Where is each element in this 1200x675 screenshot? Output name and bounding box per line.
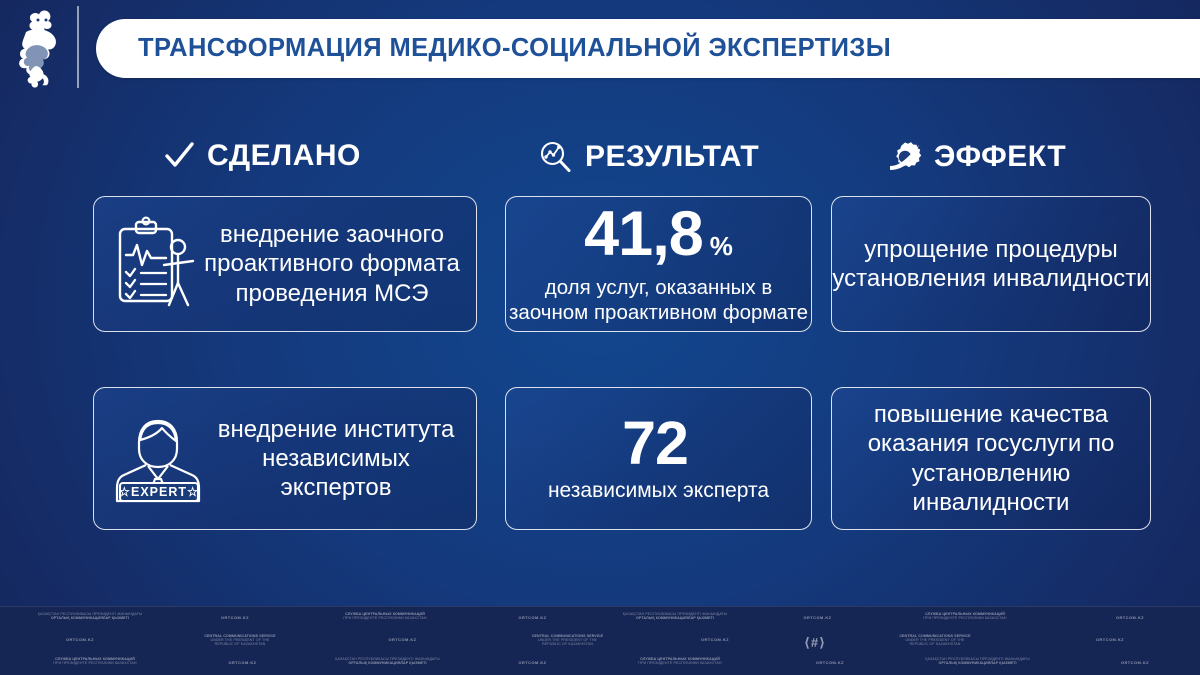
- column-header-done: СДЕЛАНО: [163, 139, 361, 173]
- watermark-site: ORTCOM.KZ: [180, 612, 290, 621]
- watermark-en: CENTRAL COMMUNICATIONS SERVICE UNDER THE…: [485, 634, 650, 647]
- watermark-row: ORTCOM.KZ CENTRAL COMMUNICATIONS SERVICE…: [0, 634, 1200, 650]
- watermark-site: ORTCOM.KZ: [190, 657, 295, 666]
- column-header-done-label: СДЕЛАНО: [207, 139, 361, 173]
- card-done-1-text: внедрение заочного проактивного формата …: [204, 220, 460, 308]
- watermark-kz: ҚАЗАҚСТАН РЕСПУБЛИКАСЫ ПРЕЗИДЕНТІ ЖАНЫНД…: [295, 657, 480, 665]
- result-1-caption: доля услуг, оказанных в заочном проактив…: [506, 275, 811, 325]
- magnifier-chart-icon: [537, 139, 573, 175]
- result-1-value: 41,8: [584, 203, 703, 266]
- watermark-ru: СЛУЖБА ЦЕНТРАЛЬНЫХ КОММУНИКАЦИЙ ПРИ ПРЕЗ…: [0, 657, 190, 665]
- watermark-row: ҚАЗАҚСТАН РЕСПУБЛИКАСЫ ПРЕЗИДЕНТІ ЖАНЫНД…: [0, 612, 1200, 621]
- header-divider: [77, 6, 79, 88]
- card-done-1[interactable]: внедрение заочного проактивного формата …: [93, 196, 477, 332]
- watermark-site: ORTCOM.KZ: [650, 634, 780, 643]
- watermark-site: ORTCOM.KZ: [320, 634, 485, 643]
- clipboard-medical-person-icon: [108, 215, 204, 313]
- check-icon: [163, 140, 195, 172]
- result-2-caption: независимых эксперта: [548, 478, 769, 504]
- card-done-2-text: внедрение института независимых эксперто…: [212, 415, 460, 503]
- svg-text:☆EXPERT☆: ☆EXPERT☆: [119, 485, 199, 499]
- card-result-1[interactable]: 41,8% доля услуг, оказанных в заочном пр…: [505, 196, 812, 332]
- watermark-ru: СЛУЖБА ЦЕНТРАЛЬНЫХ КОММУНИКАЦИЙ ПРИ ПРЕЗ…: [870, 612, 1060, 620]
- watermark-site: ORTCOM.KZ: [480, 612, 585, 621]
- result-2-value: 72: [622, 413, 688, 474]
- column-header-result-label: РЕЗУЛЬТАТ: [585, 140, 759, 174]
- result-1-value-group: 41,8%: [584, 203, 733, 266]
- watermark-site: ORTCOM.KZ: [765, 612, 870, 621]
- result-2-value-group: 72: [622, 413, 695, 474]
- watermark-ru: СЛУЖБА ЦЕНТРАЛЬНЫХ КОММУНИКАЦИЙ ПРИ ПРЕЗ…: [290, 612, 480, 620]
- card-done-2[interactable]: ☆EXPERT☆ внедрение института независимых…: [93, 387, 477, 530]
- card-effect-2[interactable]: повышение качества оказания госуслуги по…: [831, 387, 1151, 530]
- footer-watermark-band: ҚАЗАҚСТАН РЕСПУБЛИКАСЫ ПРЕЗИДЕНТІ ЖАНЫНД…: [0, 606, 1200, 675]
- watermark-kz: ҚАЗАҚСТАН РЕСПУБЛИКАСЫ ПРЕЗИДЕНТІ ЖАНЫНД…: [885, 657, 1070, 665]
- snow-leopard-emblem: [12, 6, 66, 88]
- slide: ТРАНСФОРМАЦИЯ МЕДИКО-СОЦИАЛЬНОЙ ЭКСПЕРТИ…: [0, 0, 1200, 675]
- column-header-result: РЕЗУЛЬТАТ: [537, 139, 759, 175]
- watermark-site: ORTCOM.KZ: [1070, 657, 1200, 666]
- title-bar: ТРАНСФОРМАЦИЯ МЕДИКО-СОЦИАЛЬНОЙ ЭКСПЕРТИ…: [96, 19, 1200, 78]
- expert-person-badge-icon: ☆EXPERT☆: [108, 409, 212, 509]
- watermark-kz: ҚАЗАҚСТАН РЕСПУБЛИКАСЫ ПРЕЗИДЕНТІ ЖАНЫНД…: [585, 612, 765, 620]
- card-result-2[interactable]: 72 независимых эксперта: [505, 387, 812, 530]
- watermark-en: CENTRAL COMMUNICATIONS SERVICE UNDER THE…: [850, 634, 1020, 647]
- gear-swoosh-icon: [888, 140, 922, 174]
- column-header-effect: ЭФФЕКТ: [888, 140, 1066, 174]
- watermark-row: СЛУЖБА ЦЕНТРАЛЬНЫХ КОММУНИКАЦИЙ ПРИ ПРЕЗ…: [0, 657, 1200, 666]
- watermark-kz: ҚАЗАҚСТАН РЕСПУБЛИКАСЫ ПРЕЗИДЕНТІ ЖАНЫНД…: [0, 612, 180, 620]
- card-effect-1[interactable]: упрощение процедуры установления инвалид…: [831, 196, 1151, 332]
- watermark-site: ORTCOM.KZ: [1060, 612, 1200, 621]
- watermark-site: ORTCOM.KZ: [0, 634, 160, 643]
- watermark-ru: СЛУЖБА ЦЕНТРАЛЬНЫХ КОММУНИКАЦИЙ ПРИ ПРЕЗ…: [585, 657, 775, 665]
- watermark-site: ORTCOM.KZ: [480, 657, 585, 666]
- watermark-en: CENTRAL COMMUNICATIONS SERVICE UNDER THE…: [160, 634, 320, 647]
- watermark-site: ORTCOM.KZ: [775, 657, 885, 666]
- result-1-unit: %: [710, 233, 733, 259]
- column-header-effect-label: ЭФФЕКТ: [934, 140, 1066, 174]
- card-effect-1-text: упрощение процедуры установления инвалид…: [832, 235, 1150, 294]
- slide-header: ТРАНСФОРМАЦИЯ МЕДИКО-СОЦИАЛЬНОЙ ЭКСПЕРТИ…: [0, 0, 1200, 96]
- ortcom-logo-mark: ⟨#⟩: [780, 634, 850, 650]
- card-effect-2-text: повышение качества оказания госуслуги по…: [832, 400, 1150, 517]
- watermark-site: ORTCOM.KZ: [1020, 634, 1200, 643]
- page-title: ТРАНСФОРМАЦИЯ МЕДИКО-СОЦИАЛЬНОЙ ЭКСПЕРТИ…: [138, 34, 891, 63]
